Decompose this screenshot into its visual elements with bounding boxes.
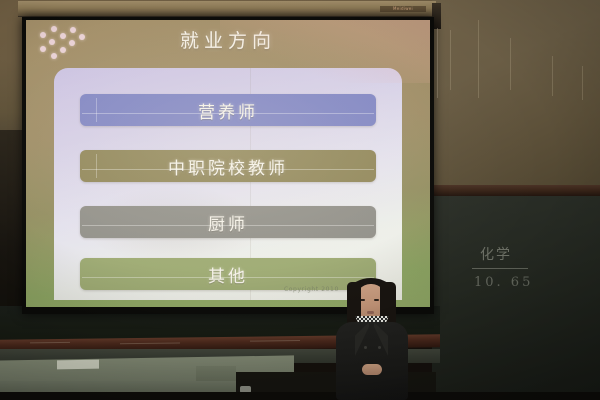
floor bbox=[0, 392, 600, 400]
slide-content-panel: 营养师 中职院校教师 厨师 其他 bbox=[54, 68, 402, 300]
slide-item-4-label: 其他 bbox=[208, 262, 248, 287]
chalk-line: 10. 65 bbox=[474, 276, 533, 289]
chalk-underline bbox=[472, 268, 528, 269]
slide-item-1-label: 营养师 bbox=[198, 98, 258, 123]
blackboard-right: 化学 10. 65 bbox=[432, 196, 600, 400]
slide-title: 就业方向 bbox=[26, 26, 430, 53]
chalk-title: 化学 bbox=[480, 248, 512, 262]
slide-item-2[interactable]: 中职院校教师 bbox=[80, 150, 376, 182]
slide-item-3[interactable]: 厨师 bbox=[80, 206, 376, 238]
slide-item-1[interactable]: 营养师 bbox=[80, 94, 376, 126]
slide-item-2-label: 中职院校教师 bbox=[168, 154, 288, 179]
bar-tick bbox=[96, 154, 97, 178]
slide-item-3-label: 厨师 bbox=[208, 210, 248, 235]
coat-button bbox=[378, 346, 381, 349]
wall-trim-rail bbox=[432, 185, 600, 196]
presenter bbox=[322, 278, 418, 400]
presenter-mouth bbox=[367, 311, 374, 314]
presenter-eye-right bbox=[374, 299, 379, 301]
coat-button bbox=[364, 346, 367, 349]
bar-tick bbox=[96, 98, 97, 122]
presenter-coat bbox=[336, 322, 408, 400]
presenter-hands bbox=[362, 364, 382, 375]
paper-sheet bbox=[57, 360, 99, 370]
screen-pull-cord[interactable] bbox=[437, 28, 438, 98]
screen-brand-label: Meidiwei bbox=[380, 6, 426, 12]
presentation-slide[interactable]: 就业方向 营养师 中职院校教师 厨师 其他 Copyright 2010 bbox=[26, 20, 430, 307]
right-wall bbox=[432, 0, 600, 185]
screen-roller-casing: Meidiwei bbox=[18, 1, 436, 17]
classroom-scene: 化学 10. 65 Meidiwei bbox=[0, 0, 600, 400]
